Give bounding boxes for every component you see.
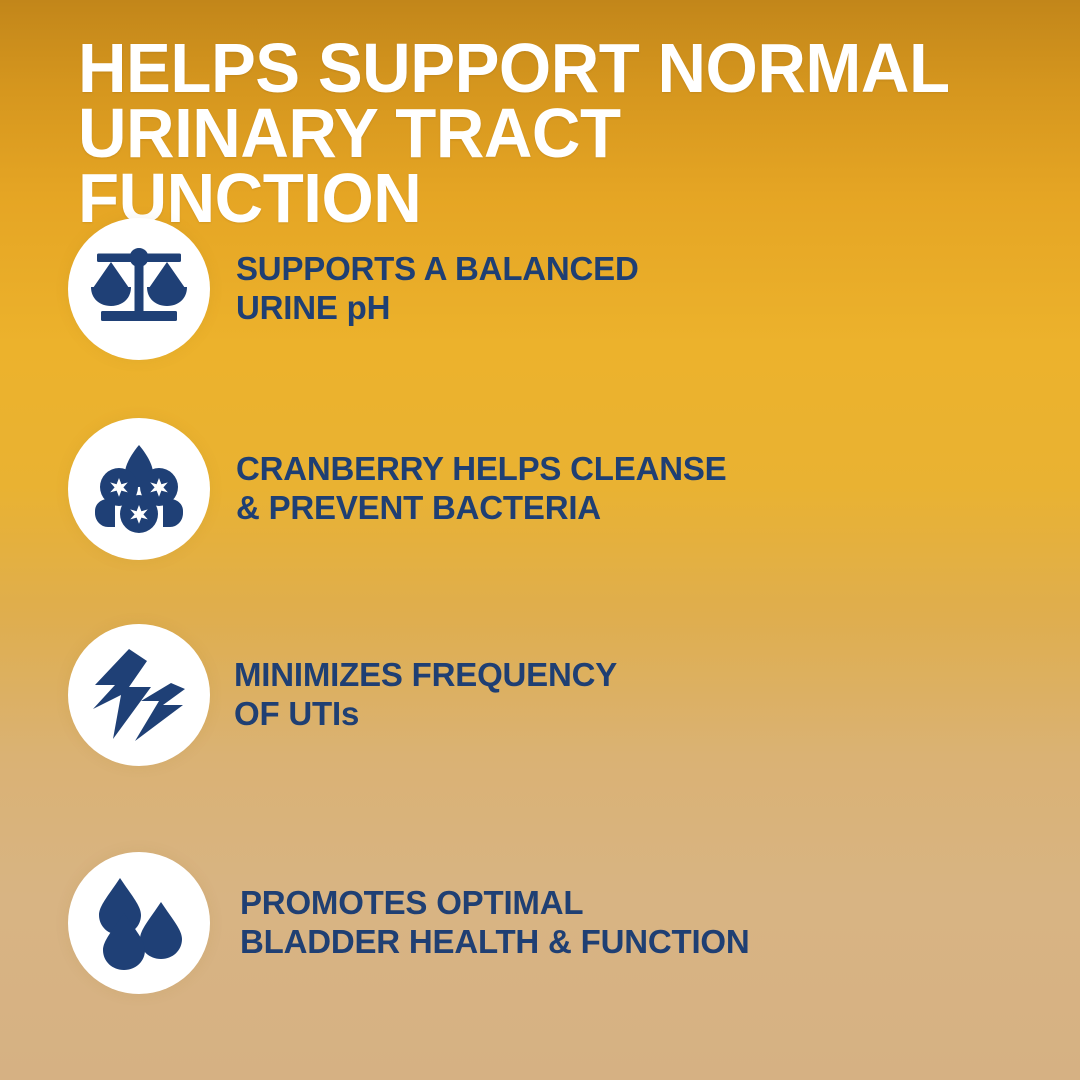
benefit-item-urine-ph: SUPPORTS A BALANCED URINE pH	[68, 218, 639, 360]
benefit-badge	[68, 418, 210, 560]
benefit-label: PROMOTES OPTIMAL BLADDER HEALTH & FUNCTI…	[240, 884, 750, 962]
cranberry-icon	[89, 439, 189, 539]
benefit-badge	[68, 852, 210, 994]
benefit-item-bladder-health: PROMOTES OPTIMAL BLADDER HEALTH & FUNCTI…	[68, 852, 750, 994]
benefit-item-cranberry: CRANBERRY HELPS CLEANSE & PREVENT BACTER…	[68, 418, 726, 560]
promo-poster: HELPS SUPPORT NORMAL URINARY TRACT FUNCT…	[0, 0, 1080, 1080]
lightning-bolts-icon	[87, 643, 191, 747]
benefit-label: MINIMIZES FREQUENCY OF UTIs	[234, 656, 617, 734]
benefit-label: CRANBERRY HELPS CLEANSE & PREVENT BACTER…	[236, 450, 726, 528]
page-title: HELPS SUPPORT NORMAL URINARY TRACT FUNCT…	[78, 36, 961, 231]
benefit-item-uti-frequency: MINIMIZES FREQUENCY OF UTIs	[68, 624, 617, 766]
benefit-label: SUPPORTS A BALANCED URINE pH	[236, 250, 639, 328]
benefit-badge	[68, 624, 210, 766]
balance-scale-icon	[87, 237, 191, 341]
water-droplets-icon	[89, 873, 189, 973]
benefit-badge	[68, 218, 210, 360]
